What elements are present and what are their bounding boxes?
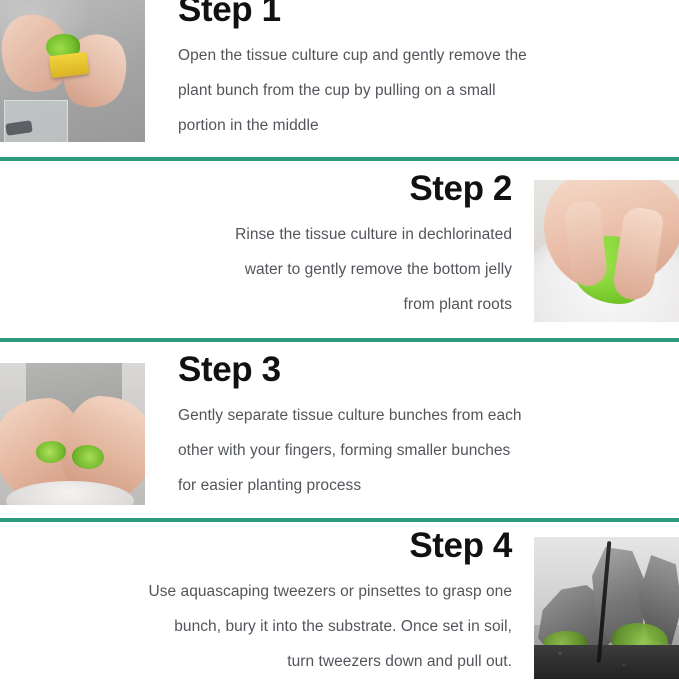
step-2-heading: Step 2 (42, 171, 512, 206)
step-2-text-column: Step 2 Rinse the tissue culture in dechl… (42, 171, 512, 322)
step-3-image (0, 363, 145, 505)
step-1-heading: Step 1 (178, 0, 648, 27)
step-4-body-line-1: Use aquascaping tweezers or pinsettes to… (42, 574, 512, 609)
step-4-text-column: Step 4 Use aquascaping tweezers or pinse… (42, 528, 512, 679)
step-block-4: Step 4 Use aquascaping tweezers or pinse… (0, 522, 679, 683)
step-2-body-line-3: from plant roots (42, 287, 512, 322)
step-3-heading: Step 3 (178, 352, 648, 387)
step-1-image (0, 0, 145, 142)
step-2-image (534, 180, 679, 322)
culture-cup-shape (49, 52, 89, 78)
step-3-body-line-3: for easier planting process (178, 468, 648, 503)
step-3-body-line-1: Gently separate tissue culture bunches f… (178, 398, 648, 433)
step-block-3: Step 3 Gently separate tissue culture bu… (0, 342, 679, 518)
photo-artwork (0, 0, 145, 142)
photo-artwork (534, 180, 679, 322)
texture-grain (534, 537, 679, 679)
step-block-1: Step 1 Open the tissue culture cup and g… (0, 0, 679, 158)
step-1-text-column: Step 1 Open the tissue culture cup and g… (178, 0, 648, 143)
step-1-body-line-3: portion in the middle (178, 108, 648, 143)
step-4-image (534, 537, 679, 679)
instruction-card: Step 1 Open the tissue culture cup and g… (0, 0, 679, 683)
plant-sprig-right (72, 445, 104, 469)
aquarium-tank-shape (4, 100, 68, 142)
photo-artwork (534, 537, 679, 679)
step-3-text-column: Step 3 Gently separate tissue culture bu… (178, 352, 648, 503)
step-4-body-line-2: bunch, bury it into the substrate. Once … (42, 609, 512, 644)
step-block-2: Step 2 Rinse the tissue culture in dechl… (0, 161, 679, 338)
step-2-body-line-2: water to gently remove the bottom jelly (42, 252, 512, 287)
step-1-body-line-1: Open the tissue culture cup and gently r… (178, 38, 648, 73)
step-4-heading: Step 4 (42, 528, 512, 563)
step-4-body-line-3: turn tweezers down and pull out. (42, 644, 512, 679)
step-2-body-line-1: Rinse the tissue culture in dechlorinate… (42, 217, 512, 252)
step-1-body-line-2: plant bunch from the cup by pulling on a… (178, 73, 648, 108)
step-3-body-line-2: other with your fingers, forming smaller… (178, 433, 648, 468)
photo-artwork (0, 363, 145, 505)
